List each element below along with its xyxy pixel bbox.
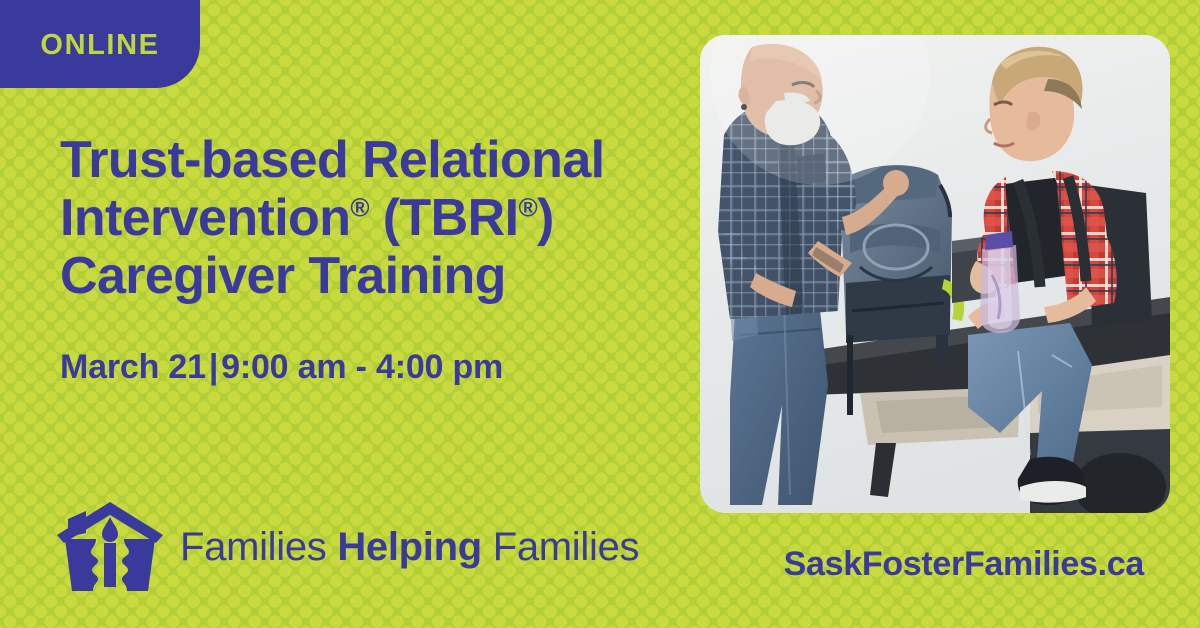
title-line-2-part-b: (TBRI: [369, 189, 518, 247]
house-with-two-faces-and-candle-icon: [56, 499, 164, 594]
event-date: March 21: [60, 348, 206, 386]
page-title: Trust-based Relational Intervention® (TB…: [60, 132, 680, 306]
logo-word-families-2: Families: [482, 525, 639, 569]
registered-mark-1: ®: [350, 193, 369, 223]
event-photo-illustration: H: [700, 35, 1170, 513]
registered-mark-2: ®: [518, 193, 537, 223]
online-badge-label: ONLINE: [40, 31, 159, 60]
schedule-separator: |: [206, 348, 221, 386]
organization-logo: Families Helping Families: [56, 499, 639, 594]
title-line-3: Caregiver Training: [60, 247, 506, 305]
event-schedule: March 21|9:00 am - 4:00 pm: [60, 348, 680, 387]
copy-block: Trust-based Relational Intervention® (TB…: [60, 132, 680, 387]
online-badge: ONLINE: [0, 0, 200, 88]
title-line-2-part-c: ): [537, 189, 554, 247]
logo-word-helping: Helping: [337, 525, 482, 569]
title-line-1: Trust-based Relational: [60, 131, 604, 189]
poster-canvas: ONLINE Trust-based Relational Interventi…: [0, 0, 1200, 628]
event-photo: H: [700, 35, 1170, 513]
website-url[interactable]: SaskFosterFamilies.ca: [784, 545, 1144, 584]
logo-wordmark: Families Helping Families: [180, 527, 639, 567]
logo-word-families-1: Families: [180, 525, 337, 569]
event-time: 9:00 am - 4:00 pm: [221, 348, 503, 386]
title-line-2-part-a: Intervention: [60, 189, 350, 247]
